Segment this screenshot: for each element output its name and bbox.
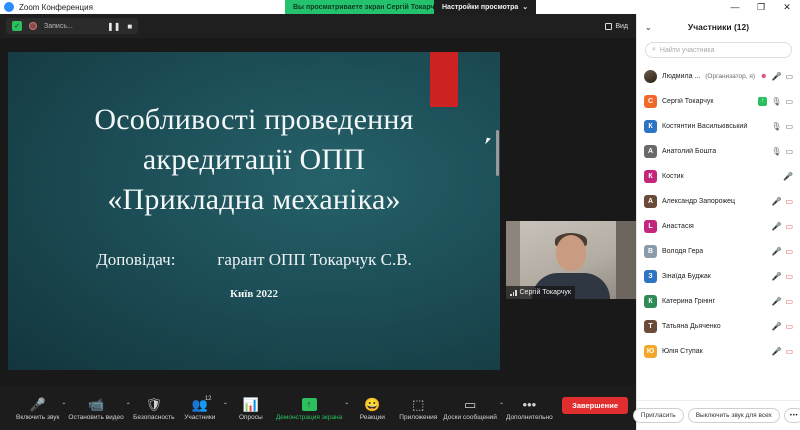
mic-muted-icon[interactable]: 🎤 xyxy=(771,347,781,356)
mic-icon[interactable]: 🎙 xyxy=(771,122,781,131)
toolbar-button-label: Остановить видео xyxy=(68,414,123,421)
view-options-label: Настройки просмотра xyxy=(442,4,518,11)
close-button[interactable]: ✕ xyxy=(774,0,800,14)
mic-muted-icon[interactable]: 🎤 xyxy=(771,247,781,256)
search-placeholder: Найти участника xyxy=(660,47,715,54)
participant-name: Татьяна Дьяченко xyxy=(662,323,721,330)
participant-status-icons: 🎙▭ xyxy=(771,122,793,131)
video-icon[interactable]: ▭ xyxy=(785,72,793,81)
video-off-icon[interactable]: ▭ xyxy=(785,297,793,306)
slide-title-line-2: акредитації ОПП xyxy=(8,140,500,180)
recording-pill: ✓ Запись... ❚❚ ■ xyxy=(6,18,138,34)
video-off-icon[interactable]: ▭ xyxy=(785,197,793,206)
video-camera-icon: 📹 xyxy=(88,396,104,411)
participants-search-wrap: ⌕ Найти участника xyxy=(637,40,800,64)
participant-name: Зінаїда Буджак xyxy=(662,273,711,280)
mute-all-button[interactable]: Выключить звук для всех xyxy=(688,408,780,423)
participant-row[interactable]: ССергій Токарчук↑🎙▭ xyxy=(637,89,800,114)
toolbar-button-9[interactable]: •••Дополнительно xyxy=(504,396,555,421)
toolbar-button-label: Участники xyxy=(184,414,215,421)
toolbar-button-label: Демонстрация экрана xyxy=(276,414,342,421)
participant-name: Анатолий Бошта xyxy=(662,148,716,155)
participant-row[interactable]: ККостик🎤 xyxy=(637,164,800,189)
recording-status-label: Запись... xyxy=(44,23,100,30)
participant-status-icons: 🎙▭ xyxy=(771,147,793,156)
toolbar-button-label: Безопасность xyxy=(133,414,174,421)
chevron-down-icon[interactable]: ⌄ xyxy=(645,23,652,32)
search-icon: ⌕ xyxy=(652,46,656,54)
mic-muted-icon[interactable]: 🎤 xyxy=(783,172,793,181)
encryption-shield-icon[interactable]: ✓ xyxy=(12,21,22,31)
window-title: Zoom Конференция xyxy=(19,3,93,12)
share-arrow-icon: ↑ xyxy=(302,398,317,411)
participant-row[interactable]: ТТатьяна Дьяченко🎤▭ xyxy=(637,314,800,339)
participant-status-icons: ↑🎙▭ xyxy=(758,97,793,106)
video-off-icon[interactable]: ▭ xyxy=(785,222,793,231)
participant-name: Костик xyxy=(662,173,684,180)
more-options-button[interactable]: ••• xyxy=(784,408,800,423)
webcam-person-head xyxy=(556,235,586,271)
participants-panel: ⌄ Участники (12) ⌕ Найти участника Людми… xyxy=(636,14,800,430)
mic-icon[interactable]: 🎙 xyxy=(771,97,781,106)
avatar: З xyxy=(644,270,657,283)
slide-scrollbar[interactable] xyxy=(496,130,499,176)
invite-button[interactable]: Пригласить xyxy=(633,408,684,423)
participant-status-icons: 🎤▭ xyxy=(771,297,793,306)
stop-recording-button[interactable]: ■ xyxy=(127,22,132,31)
toolbar-button-3[interactable]: 👥12Участники xyxy=(177,396,223,421)
avatar: L xyxy=(644,220,657,233)
avatar: А xyxy=(644,145,657,158)
participant-name: Юлія Ступак xyxy=(662,348,703,355)
participant-row[interactable]: LАнастасія🎤▭ xyxy=(637,214,800,239)
view-options-button[interactable]: Настройки просмотра ⌄ xyxy=(434,0,536,14)
screen-share-banner: Вы просматриваете экран Сергій Токарчук xyxy=(285,0,450,14)
toolbar-button-label: Опросы xyxy=(239,414,263,421)
participant-status-icons: 🎤▭ xyxy=(771,197,793,206)
view-button[interactable]: Вид xyxy=(605,19,628,33)
screen-share-banner-text: Вы просматриваете экран Сергій Токарчук xyxy=(293,4,442,11)
toolbar-button-8[interactable]: ▭Доски сообщений xyxy=(441,396,499,421)
participant-name: Костянтин Васильківський xyxy=(662,123,747,130)
mic-muted-icon[interactable]: 🎤 xyxy=(771,272,781,281)
shared-screen-stage[interactable]: Особливості проведення акредитації ОПП «… xyxy=(0,38,636,410)
participant-status-icons: 🎤▭ xyxy=(771,347,793,356)
chevron-down-icon: ⌄ xyxy=(522,3,528,11)
participant-name: Александр Запорожец xyxy=(662,198,735,205)
more-dots-icon: ••• xyxy=(523,396,537,411)
participant-row[interactable]: ККостянтин Васильківський🎙▭ xyxy=(637,114,800,139)
toolbar-button-6[interactable]: 😀Реакции xyxy=(349,396,395,421)
search-input[interactable]: ⌕ Найти участника xyxy=(645,42,792,58)
slide-speaker-line: Доповідач: гарант ОПП Токарчук С.В. xyxy=(8,250,500,270)
avatar: К xyxy=(644,120,657,133)
avatar: К xyxy=(644,170,657,183)
pause-recording-button[interactable]: ❚❚ xyxy=(107,22,120,31)
view-button-label: Вид xyxy=(615,23,628,30)
participant-status-icons: ☻🎤▭ xyxy=(760,72,793,81)
mic-muted-icon[interactable]: 🎤 xyxy=(771,222,781,231)
participant-row[interactable]: ВВолодя Гера🎤▭ xyxy=(637,239,800,264)
slide-accent-bar xyxy=(430,52,458,107)
slide-speaker-name: гарант ОПП Токарчук С.В. xyxy=(217,250,411,270)
avatar xyxy=(644,70,657,83)
avatar: А xyxy=(644,195,657,208)
reactions-icon: 😀 xyxy=(364,396,380,411)
recording-toolbar: ✓ Запись... ❚❚ ■ Вид xyxy=(0,14,636,38)
polls-icon: 📊 xyxy=(243,396,259,411)
participants-list[interactable]: Людмила ...(Организатор, я)☻🎤▭ССергій То… xyxy=(637,64,800,394)
participant-name: Сергій Токарчук xyxy=(662,98,714,105)
shield-icon: 🛡 xyxy=(146,396,163,411)
video-off-icon[interactable]: ▭ xyxy=(785,347,793,356)
slide-title: Особливості проведення акредитації ОПП «… xyxy=(8,100,500,221)
participant-name: Володя Гера xyxy=(662,248,703,255)
toolbar-button-label: Дополнительно xyxy=(506,414,553,421)
mic-muted-icon[interactable]: 🎤 xyxy=(771,197,781,206)
view-layout-icon xyxy=(605,23,612,30)
toolbar-button-7[interactable]: ⬚Приложения xyxy=(395,396,441,421)
participant-row[interactable]: ЗЗінаїда Буджак🎤▭ xyxy=(637,264,800,289)
host-icon: ☻ xyxy=(760,73,767,80)
participant-row[interactable]: ААлександр Запорожец🎤▭ xyxy=(637,189,800,214)
toolbar-button-label: Реакции xyxy=(360,414,385,421)
presentation-slide: Особливості проведення акредитації ОПП «… xyxy=(8,52,500,370)
video-off-icon[interactable]: ▭ xyxy=(785,247,793,256)
participants-count-badge: 12 xyxy=(205,396,212,402)
toolbar-button-5[interactable]: ↑Демонстрация экрана xyxy=(274,396,344,421)
slide-title-line-3: «Прикладна механіка» xyxy=(8,180,500,220)
avatar: В xyxy=(644,245,657,258)
participant-row[interactable]: ААнатолий Бошта🎙▭ xyxy=(637,139,800,164)
participant-row[interactable]: ЮЮлія Ступак🎤▭ xyxy=(637,339,800,364)
webcam-thumbnail[interactable]: Сергій Токарчук xyxy=(506,221,636,299)
window-title-bar: Zoom Конференция Вы просматриваете экран… xyxy=(0,0,800,14)
mic-icon[interactable]: 🎙 xyxy=(771,147,781,156)
participant-name: Анастасія xyxy=(662,223,694,230)
participant-name: Катерина Грінінг xyxy=(662,298,715,305)
minimize-button[interactable]: — xyxy=(722,0,748,14)
zoom-logo-icon xyxy=(4,2,14,12)
participant-status-icons: 🎤▭ xyxy=(771,272,793,281)
slide-city-year: Київ 2022 xyxy=(8,288,500,300)
video-off-icon[interactable]: ▭ xyxy=(785,322,793,331)
participant-status-icons: 🎤▭ xyxy=(771,322,793,331)
participant-status-icons: 🎤▭ xyxy=(771,247,793,256)
participants-panel-footer: Пригласить Выключить звук для всех ••• xyxy=(637,400,800,430)
slide-title-line-1: Особливості проведення xyxy=(8,100,500,140)
participant-row[interactable]: ККатерина Грінінг🎤▭ xyxy=(637,289,800,314)
participants-panel-title: Участники (12) xyxy=(688,22,749,32)
webcam-name-text: Сергій Токарчук xyxy=(520,289,572,296)
participants-panel-header: ⌄ Участники (12) xyxy=(637,14,800,40)
avatar: К xyxy=(644,295,657,308)
avatar: Ю xyxy=(644,345,657,358)
apps-icon: ⬚ xyxy=(412,396,424,411)
video-icon[interactable]: ▭ xyxy=(785,97,793,106)
toolbar-button-4[interactable]: 📊Опросы xyxy=(228,396,274,421)
toolbar-button-label: Доски сообщений xyxy=(443,414,497,421)
mic-muted-icon[interactable]: 🎤 xyxy=(771,72,781,81)
toolbar-button-1[interactable]: 📹Остановить видео xyxy=(66,396,125,421)
toolbar-button-2[interactable]: 🛡Безопасность xyxy=(131,396,177,421)
participant-role-tag: (Организатор, я) xyxy=(705,73,755,80)
mic-muted-icon[interactable]: 🎤 xyxy=(771,297,781,306)
video-off-icon[interactable]: ▭ xyxy=(785,272,793,281)
mic-muted-icon: 🎤 xyxy=(30,396,46,411)
window-controls: — ❐ ✕ xyxy=(722,0,800,14)
mic-muted-icon[interactable]: 🎤 xyxy=(771,322,781,331)
video-icon[interactable]: ▭ xyxy=(785,122,793,131)
avatar: Т xyxy=(644,320,657,333)
toolbar-button-0[interactable]: 🎤Включить звук xyxy=(14,396,61,421)
maximize-button[interactable]: ❐ xyxy=(748,0,774,14)
audio-level-icon xyxy=(510,290,517,296)
participant-status-icons: 🎤 xyxy=(783,172,793,181)
participant-status-icons: 🎤▭ xyxy=(771,222,793,231)
slide-speaker-label: Доповідач: xyxy=(96,250,175,270)
webcam-name-label: Сергій Токарчук xyxy=(506,286,575,299)
whiteboard-icon: ▭ xyxy=(464,396,476,411)
share-screen-icon: ↑ xyxy=(302,396,317,411)
webcam-wall-right xyxy=(616,221,636,299)
toolbar-button-label: Включить звук xyxy=(16,414,59,421)
recording-dot-icon xyxy=(29,22,37,30)
avatar: С xyxy=(644,95,657,108)
end-meeting-button[interactable]: Завершение xyxy=(562,397,628,414)
sharing-screen-badge: ↑ xyxy=(758,97,767,106)
participant-row[interactable]: Людмила ...(Организатор, я)☻🎤▭ xyxy=(637,64,800,89)
meeting-controls-toolbar: 🎤Включить звук⌃📹Остановить видео⌃🛡Безопа… xyxy=(0,386,636,430)
participant-name: Людмила ... xyxy=(662,73,700,80)
video-icon[interactable]: ▭ xyxy=(785,147,793,156)
toolbar-button-label: Приложения xyxy=(399,414,437,421)
